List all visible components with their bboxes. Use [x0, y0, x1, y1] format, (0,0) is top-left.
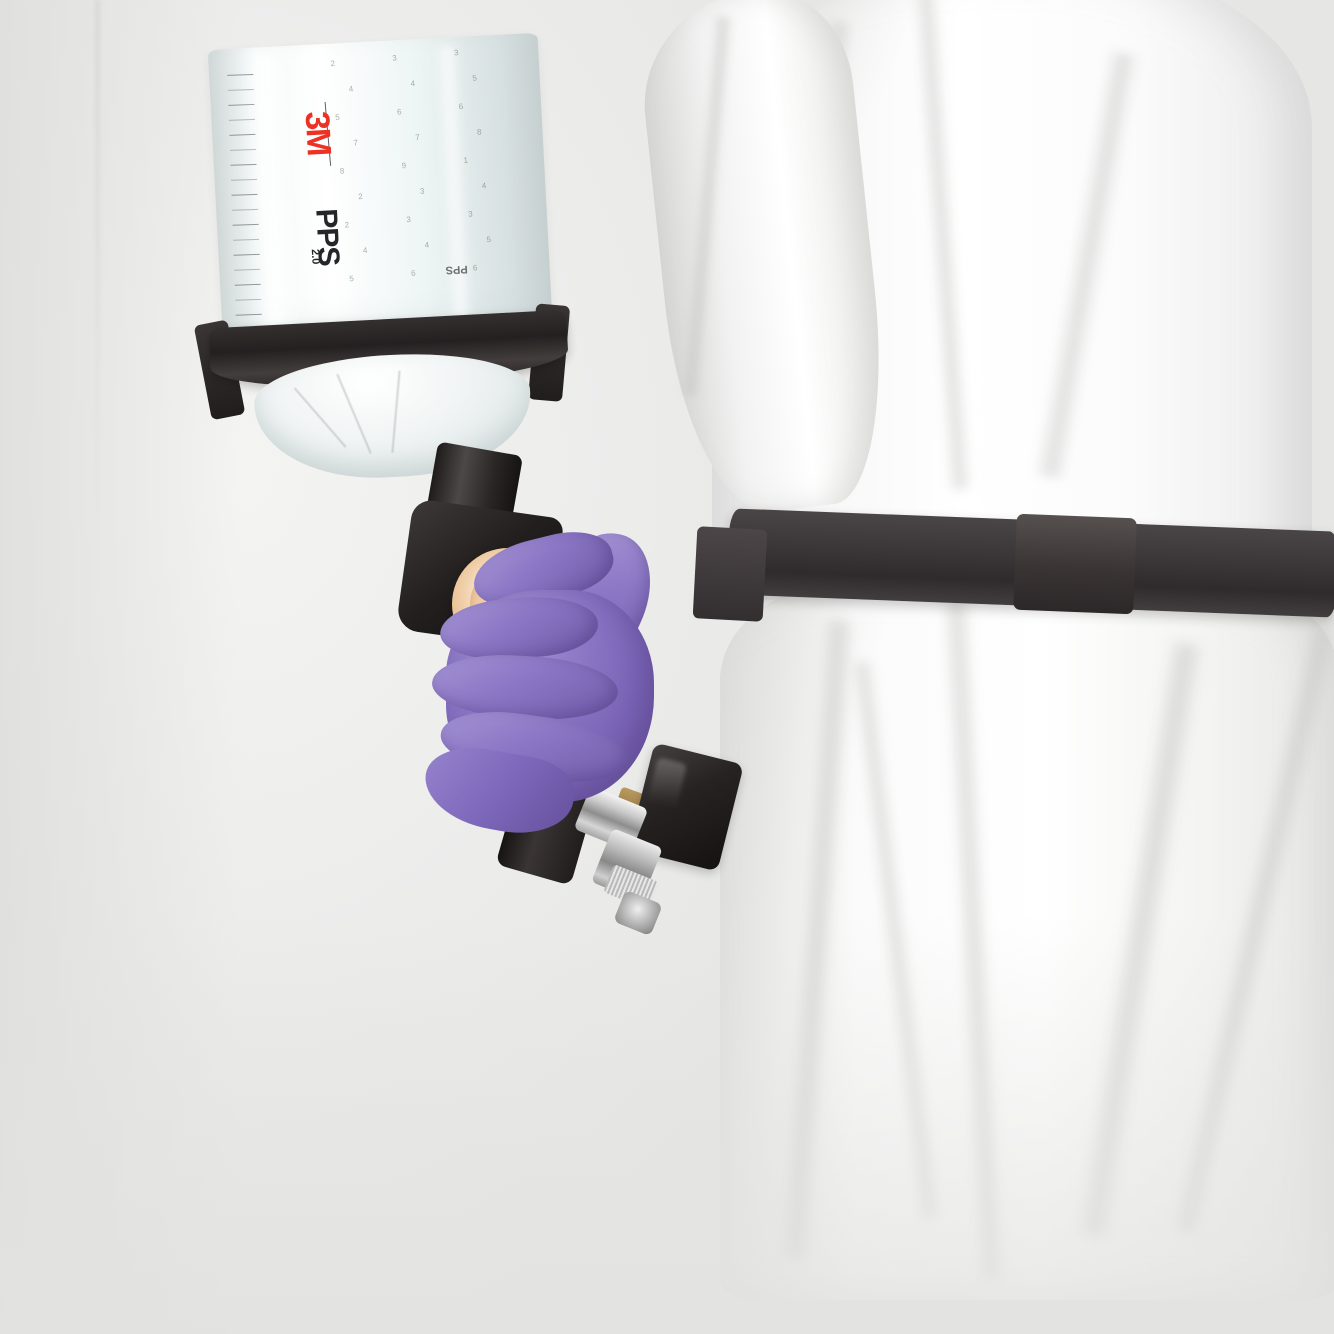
cup-mix-ratio-marks: 233445566778891234233445566 — [330, 42, 551, 308]
cup-ratio-numeral: 1 — [463, 155, 471, 165]
cup-ratio-numeral: 7 — [415, 133, 423, 143]
cup-ratio-numeral: 5 — [349, 274, 357, 284]
cup-ratio-numeral: 3 — [454, 48, 462, 58]
pps-version-label: 2.0 — [309, 249, 322, 265]
cup-ratio-numeral: 6 — [472, 263, 480, 273]
cup-ratio-numeral: 6 — [411, 268, 419, 278]
cup-ratio-numeral: 4 — [410, 79, 418, 89]
cup-side-code: PPS — [445, 263, 468, 276]
pps-brand-lockup: PPS 2.0 3M — [281, 66, 365, 260]
wall-seam — [96, 0, 99, 540]
pps-cup-assembly: 233445566778891234233445566 PPS 2.0 3M P… — [183, 7, 630, 548]
cup-ratio-numeral: 6 — [397, 107, 405, 117]
floor-shading — [0, 914, 1334, 1334]
nitrile-glove — [418, 520, 688, 820]
cup-ratio-numeral: 5 — [486, 235, 494, 245]
product-photo: 233445566778891234233445566 PPS 2.0 3M P… — [0, 0, 1334, 1334]
cup-ratio-numeral: 5 — [472, 73, 480, 83]
3m-logo: 3M — [296, 95, 339, 171]
product-feature-card: 233445566778891234233445566 PPS 2.0 3M P… — [0, 0, 1334, 1334]
cup-ratio-numeral: 9 — [401, 161, 409, 171]
cup-ratio-numeral: 3 — [406, 215, 414, 225]
cup-ratio-numeral: 4 — [481, 181, 489, 191]
cup-ratio-numeral: 8 — [477, 127, 485, 137]
cup-ratio-numeral: 3 — [420, 186, 428, 196]
belt-buckle — [1013, 514, 1137, 615]
cup-ratio-numeral: 6 — [458, 102, 466, 112]
cup-ratio-numeral: 4 — [424, 240, 432, 250]
cup-ratio-numeral: 3 — [392, 53, 400, 63]
cup-ratio-numeral: 3 — [468, 209, 476, 219]
belt-keeper — [693, 526, 768, 622]
